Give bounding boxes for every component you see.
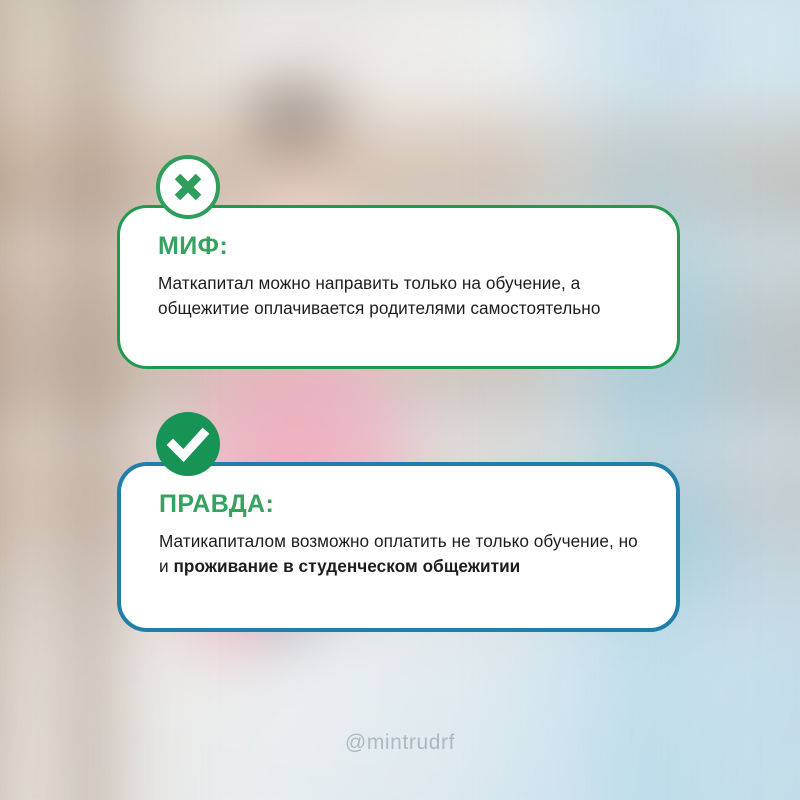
check-icon — [156, 412, 220, 476]
cross-icon — [156, 155, 220, 219]
truth-body-text-bold: проживание в студенческом общежитии — [173, 556, 520, 576]
truth-heading: ПРАВДА: — [159, 492, 650, 517]
truth-card: ПРАВДА: Матикапиталом возможно оплатить … — [117, 462, 680, 632]
truth-body: Матикапиталом возможно оплатить не тольк… — [159, 529, 650, 580]
watermark-handle: @mintrudrf — [0, 731, 800, 755]
myth-card-content: МИФ: Маткапитал можно направить только н… — [120, 208, 677, 322]
myth-body: Маткапитал можно направить только на обу… — [158, 271, 645, 322]
poster-canvas: МИФ: Маткапитал можно направить только н… — [0, 0, 800, 800]
myth-card: МИФ: Маткапитал можно направить только н… — [117, 205, 680, 369]
myth-body-text: Маткапитал можно направить только на обу… — [158, 273, 600, 318]
background-vignette — [0, 0, 800, 800]
truth-card-content: ПРАВДА: Матикапиталом возможно оплатить … — [121, 466, 676, 580]
myth-heading: МИФ: — [158, 234, 645, 259]
